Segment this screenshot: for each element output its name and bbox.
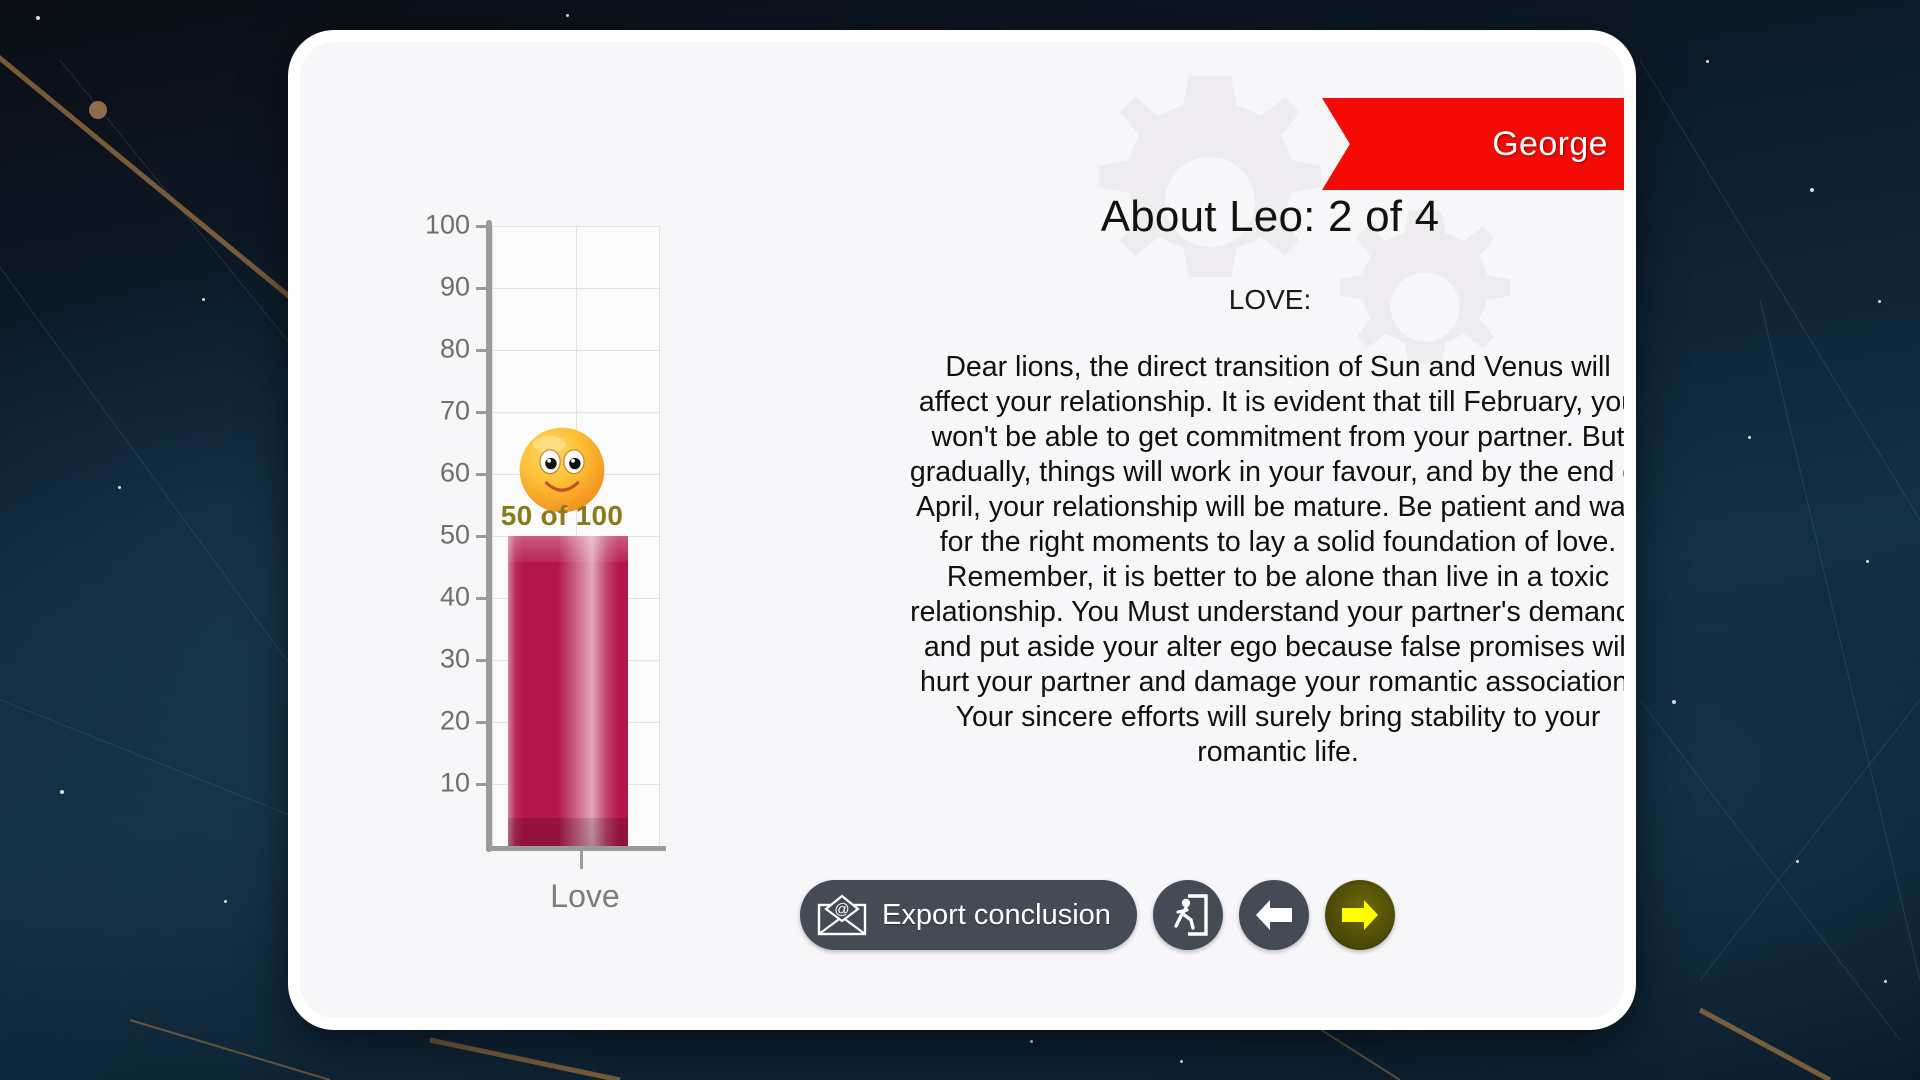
export-conclusion-button[interactable]: @ Export conclusion bbox=[800, 880, 1137, 950]
envelope-at-icon: @ bbox=[816, 893, 868, 937]
y-tick-label: 50 bbox=[400, 520, 470, 551]
svg-text:@: @ bbox=[834, 901, 849, 918]
bar-love bbox=[508, 536, 628, 846]
y-tick-label: 40 bbox=[400, 582, 470, 613]
forward-button[interactable] bbox=[1325, 880, 1395, 950]
y-tick-label: 100 bbox=[400, 210, 470, 241]
card-content-area: George bbox=[300, 42, 1624, 1018]
y-tick-label: 90 bbox=[400, 272, 470, 303]
arrow-left-icon bbox=[1252, 895, 1296, 935]
y-tick-label: 20 bbox=[400, 706, 470, 737]
y-tick-label: 60 bbox=[400, 458, 470, 489]
y-tick-label: 10 bbox=[400, 768, 470, 799]
love-score-chart: 100 90 80 70 60 50 40 30 20 10 bbox=[420, 202, 760, 922]
arrow-right-icon bbox=[1338, 895, 1382, 935]
bar-value-label: 50 of 100 bbox=[462, 500, 662, 532]
export-conclusion-label: Export conclusion bbox=[882, 899, 1111, 932]
user-name-ribbon[interactable]: George bbox=[1322, 98, 1624, 190]
y-tick-label: 70 bbox=[400, 396, 470, 427]
x-category-label: Love bbox=[500, 878, 670, 915]
bar-shadow-bottom bbox=[508, 818, 628, 846]
x-category-tick bbox=[580, 851, 583, 869]
user-name-label: George bbox=[1492, 125, 1608, 164]
section-heading: LOVE: bbox=[940, 284, 1600, 316]
y-tick-label: 80 bbox=[400, 334, 470, 365]
action-bar: @ Export conclusion bbox=[800, 880, 1395, 950]
exit-running-person-icon bbox=[1166, 892, 1210, 938]
back-button[interactable] bbox=[1239, 880, 1309, 950]
chart-plot-area bbox=[492, 226, 660, 846]
app-root: George bbox=[0, 0, 1920, 1080]
horoscope-body-text: Dear lions, the direct transition of Sun… bbox=[908, 350, 1624, 770]
main-card: George bbox=[288, 30, 1636, 1030]
bar-highlight-top bbox=[508, 536, 628, 562]
chart-x-axis bbox=[486, 846, 666, 851]
exit-button[interactable] bbox=[1153, 880, 1223, 950]
reading-panel: About Leo: 2 of 4 LOVE: Dear lions, the … bbox=[900, 192, 1600, 770]
y-tick-label: 30 bbox=[400, 644, 470, 675]
page-title: About Leo: 2 of 4 bbox=[940, 192, 1600, 242]
